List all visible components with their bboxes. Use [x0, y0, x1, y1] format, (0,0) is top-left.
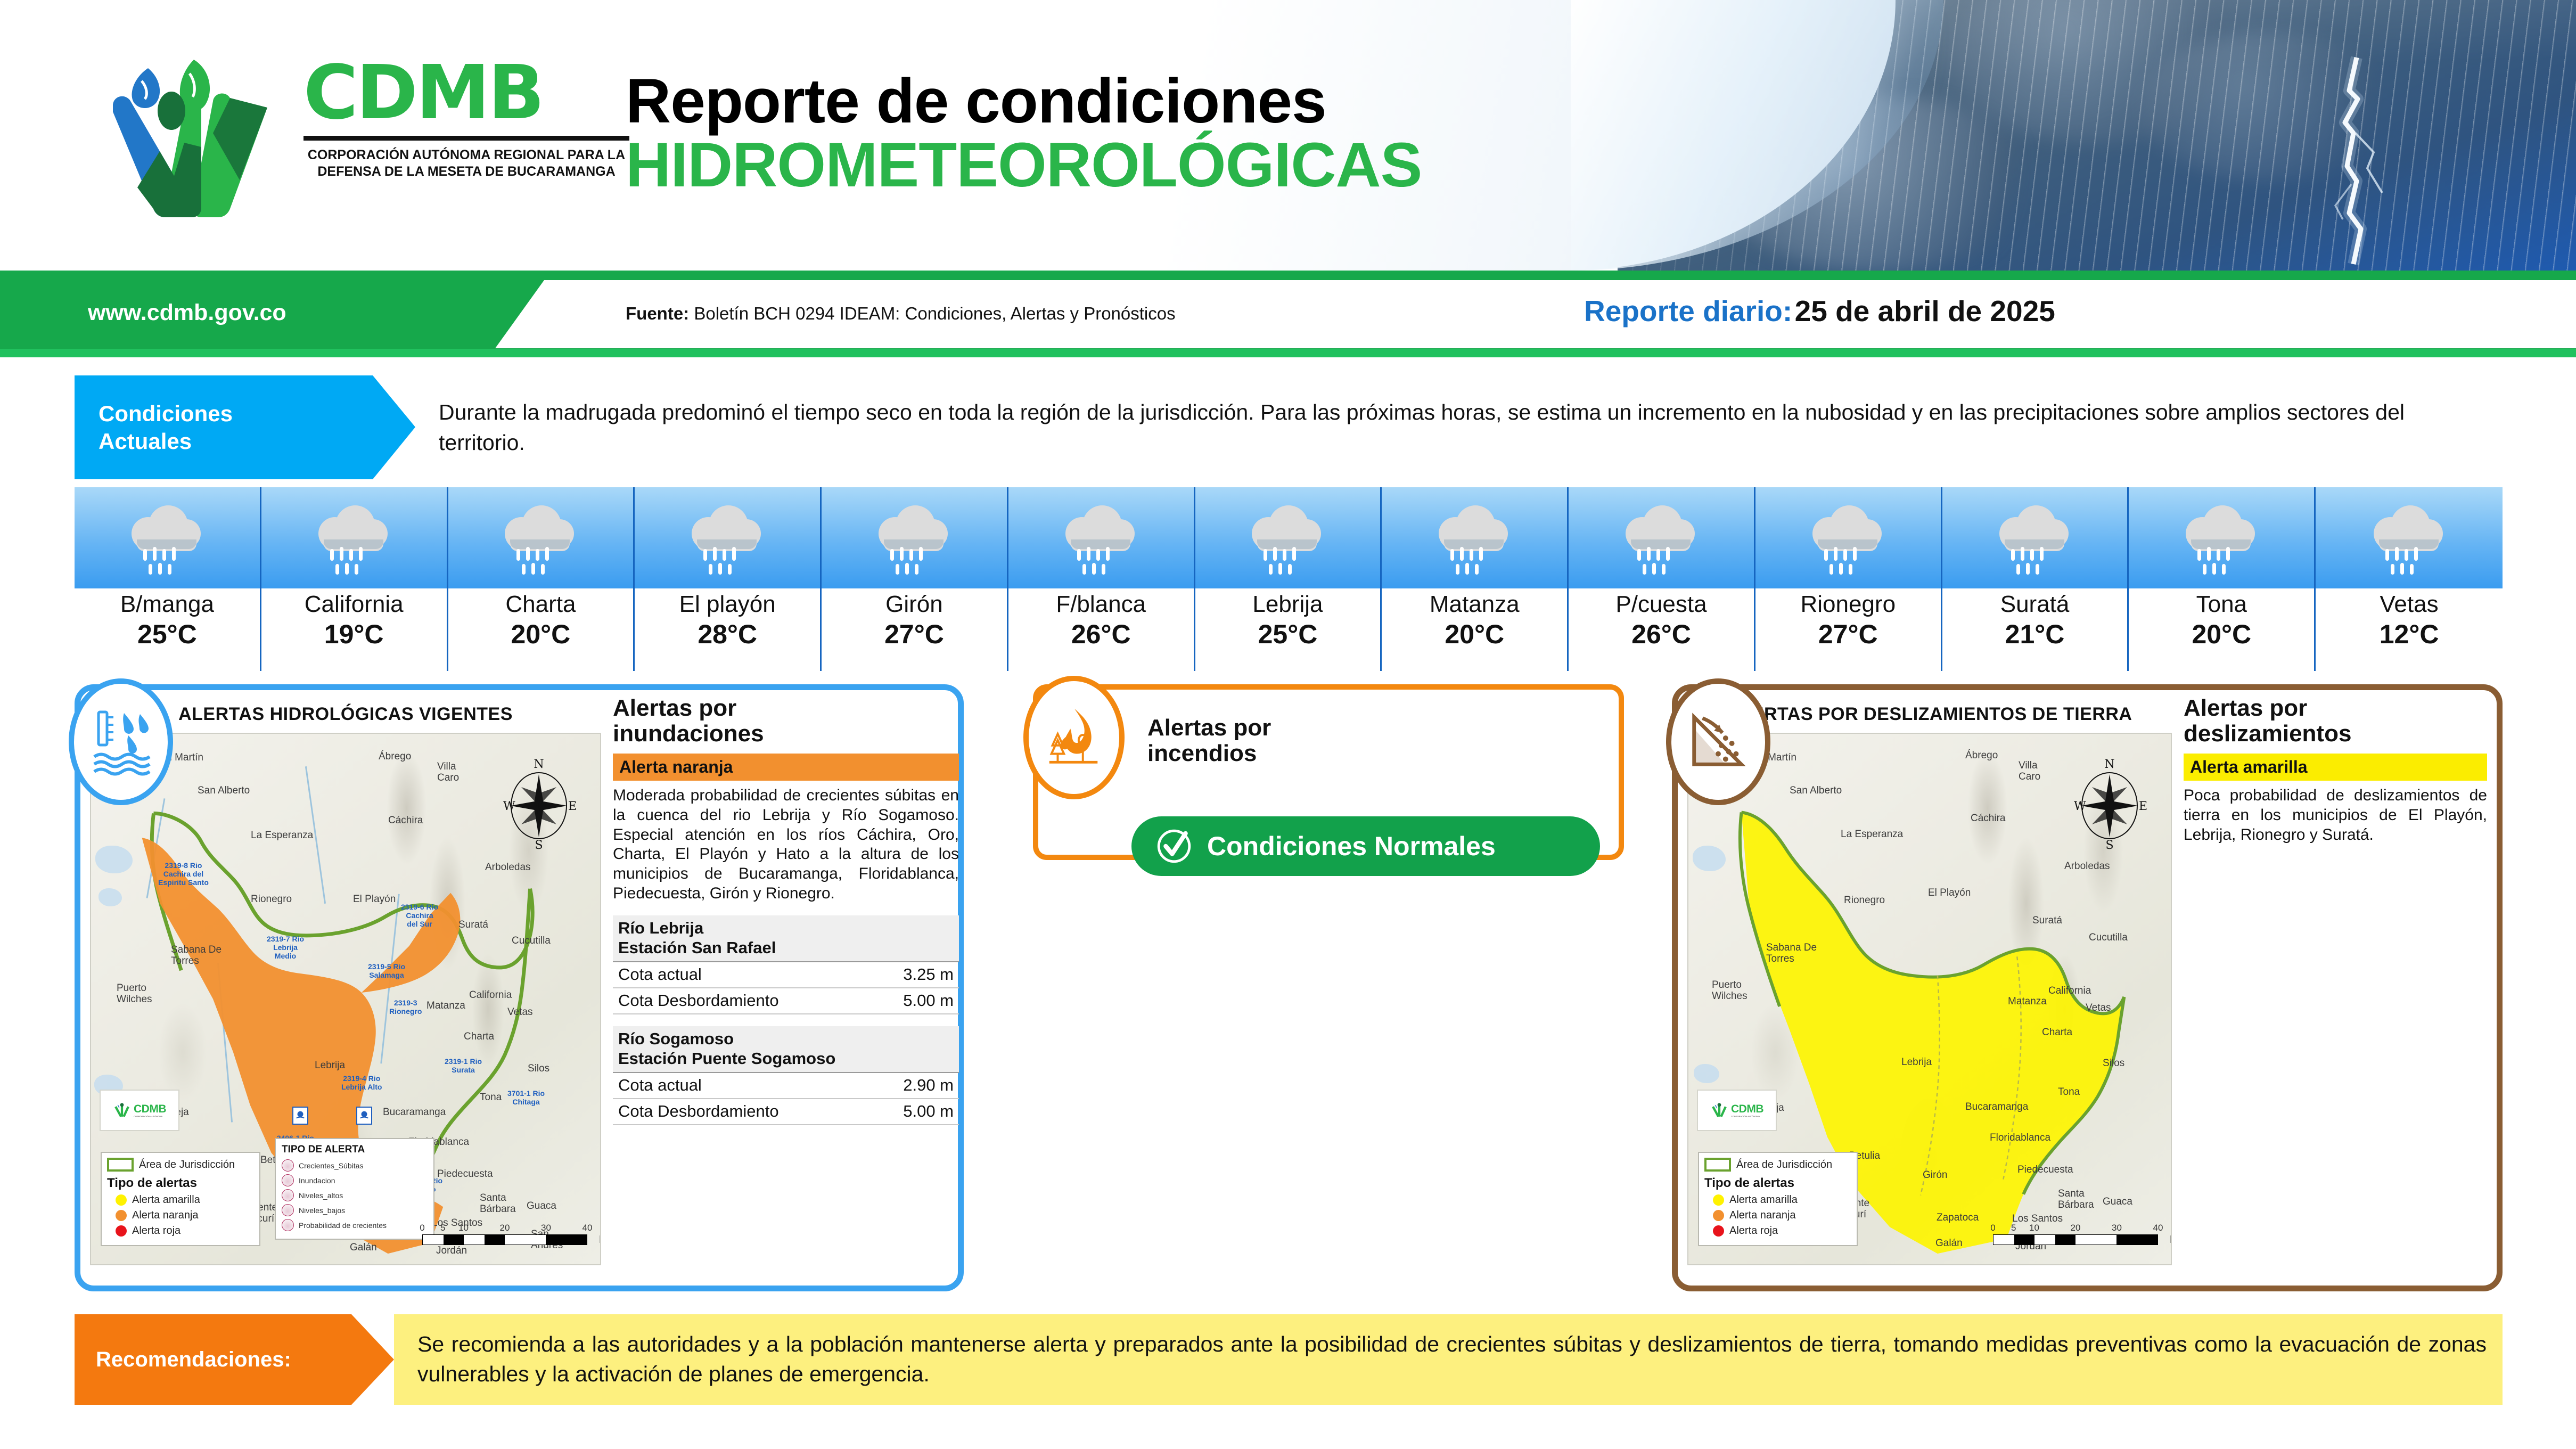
map-city-label: Rionegro — [251, 894, 292, 905]
green-underline — [0, 349, 2576, 357]
landslide-map-legend: Área de Jurisdicción Tipo de alertas Ale… — [1698, 1152, 1858, 1246]
map-city-label: Ábrego — [1965, 750, 1998, 762]
legend-label: Alerta amarilla — [132, 1194, 200, 1206]
map-city-label: Cáchira — [1971, 813, 2005, 824]
map-cdmb-logo: CDMB CORPORACIÓN AUTÓNOMA — [1697, 1090, 1777, 1131]
map-river-label: 2319-3Rionegro — [389, 999, 422, 1016]
map-city-label: Zapatoca — [1937, 1212, 1979, 1224]
map-city-label: Charta — [2042, 1027, 2072, 1038]
report-date-label: Reporte diario: — [1584, 294, 1792, 328]
legend-types-title: Tipo de alertas — [1704, 1176, 1851, 1191]
weather-icon-area — [2129, 487, 2316, 588]
river-row-value: 5.00 m — [903, 991, 954, 1010]
map-city-label: Arboledas — [485, 862, 531, 873]
map-city-label: SantaBárbara — [480, 1193, 516, 1215]
weather-icon-area — [1942, 487, 2129, 588]
rain-cloud-icon — [501, 498, 580, 578]
logo-divider — [303, 136, 629, 141]
map-city-label: Tona — [2058, 1086, 2080, 1098]
map-city-label: Piedecuesta — [437, 1168, 493, 1180]
temperature-cell: Suratá21°C — [1942, 487, 2129, 671]
rain-cloud-icon — [1061, 498, 1141, 578]
river-row-label: Cota actual — [618, 965, 702, 984]
temperature-label-area: F/blanca26°C — [1008, 588, 1195, 671]
website-url[interactable]: www.cdmb.gov.co — [88, 300, 286, 326]
alert-type-label: Inundacion — [299, 1176, 335, 1185]
temperature-label-area: Lebrija25°C — [1195, 588, 1382, 671]
scale-tick: 20 — [2071, 1223, 2081, 1233]
temperature-cell: Vetas12°C — [2316, 487, 2503, 671]
city-name: Suratá — [2000, 591, 2070, 618]
flood-alert-level-badge: Alerta naranja — [613, 754, 959, 781]
flood-alert-type-legend: TIPO DE ALERTA Crecientes_Súbitas Inunda… — [275, 1138, 434, 1240]
cdmb-acronym: CDMB — [303, 56, 639, 130]
temperature-cell: Tona20°C — [2129, 487, 2316, 671]
flood-alerts-panel[interactable]: ALERTAS HIDROLÓGICAS VIGENTES — [75, 684, 964, 1291]
map-city-label: Girón — [1923, 1169, 1947, 1181]
compass-rose-icon: N S W E — [499, 755, 579, 851]
map-city-label: Lebrija — [1901, 1057, 1932, 1068]
source-text: Boletín BCH 0294 IDEAM: Condiciones, Ale… — [689, 304, 1175, 323]
rain-cloud-icon — [127, 498, 207, 578]
map-city-label: La Esperanza — [1841, 829, 1903, 840]
city-temperature: 26°C — [1631, 618, 1691, 650]
flood-alert-heading: Alertas por inundaciones — [613, 695, 959, 747]
map-city-label: Arboledas — [2064, 861, 2110, 872]
cdmb-subtitle-line1: CORPORACIÓN AUTÓNOMA REGIONAL PARA LA — [303, 147, 629, 163]
landslide-icon — [1666, 678, 1770, 805]
svg-text:S: S — [535, 839, 543, 851]
city-name: Rionegro — [1800, 591, 1896, 618]
map-city-label: Vetas — [2086, 1002, 2111, 1014]
landslide-heading-line2: deslizamientos — [2184, 721, 2351, 747]
temperature-cell: El playón28°C — [635, 487, 822, 671]
station-marker — [292, 1107, 308, 1125]
landslide-alert-level-badge: Alerta amarilla — [2184, 754, 2487, 781]
landslide-map-scalebar: 0 5 10 20 30 40 Km — [1993, 1223, 2158, 1245]
alert-type-item: Niveles_altos — [282, 1189, 428, 1201]
temperature-label-area: Suratá21°C — [1942, 588, 2129, 671]
temperature-cell: F/blanca26°C — [1008, 487, 1195, 671]
map-river-label: 2319-1 RioSurata — [445, 1058, 482, 1075]
map-city-label: Cáchira — [388, 815, 423, 826]
weather-icon-area — [1569, 487, 1755, 588]
city-name: Charta — [505, 591, 576, 618]
river-station-block: Río Sogamoso Estación Puente Sogamoso Co… — [613, 1026, 959, 1125]
recommendations-section: Recomendaciones: Se recomienda a las aut… — [75, 1314, 2503, 1405]
city-temperature: 21°C — [2005, 618, 2065, 650]
legend-swatch-orange — [1713, 1210, 1724, 1221]
map-logo-sub: CORPORACIÓN AUTÓNOMA — [134, 1116, 166, 1118]
map-city-label: El Playón — [353, 894, 396, 905]
temperature-label-area: El playón28°C — [635, 588, 822, 671]
weather-icon-area — [2316, 487, 2503, 588]
map-city-label: California — [2048, 985, 2091, 997]
jurisdiction-swatch — [1704, 1158, 1731, 1172]
river-data-row: Cota Desbordamiento 5.00 m — [613, 988, 959, 1014]
forest-fire-icon — [1023, 676, 1125, 799]
legend-jurisdiction-label: Área de Jurisdicción — [139, 1159, 235, 1171]
temperature-cell: Rionegro27°C — [1755, 487, 1942, 671]
landslide-alert-heading: Alertas por deslizamientos — [2184, 695, 2487, 747]
legend-jurisdiction-label: Área de Jurisdicción — [1736, 1159, 1832, 1171]
map-city-label: Matanza — [426, 1000, 465, 1012]
temperature-cell: P/cuesta26°C — [1569, 487, 1755, 671]
city-name: F/blanca — [1056, 591, 1146, 618]
map-city-label: El Playón — [1928, 887, 1971, 899]
rain-cloud-icon — [874, 498, 954, 578]
svg-text:N: N — [2104, 758, 2114, 771]
scale-tick: 20 — [500, 1223, 510, 1233]
page-title: Reporte de condiciones HIDROMETEOROLÓGIC… — [626, 69, 1422, 198]
map-city-label: Matanza — [2008, 996, 2047, 1008]
flood-map-legend: Área de Jurisdicción Tipo de alertas Ale… — [101, 1152, 260, 1246]
map-city-label: Vetas — [507, 1006, 533, 1018]
temperature-cell: Matanza20°C — [1382, 487, 1569, 671]
rain-cloud-icon — [687, 498, 767, 578]
legend-swatch-yellow — [116, 1194, 127, 1206]
legend-jurisdiction-row: Área de Jurisdicción — [1704, 1158, 1851, 1172]
cdmb-logo[interactable]: CDMB CORPORACIÓN AUTÓNOMA REGIONAL PARA … — [80, 43, 644, 240]
water-level-gauge-icon — [69, 678, 173, 805]
rain-cloud-icon — [1808, 498, 1888, 578]
map-river-label: 3701-1 RioChitaga — [507, 1090, 545, 1107]
city-temperature: 25°C — [137, 618, 197, 650]
temperature-label-area: Vetas12°C — [2316, 588, 2503, 671]
landslide-map-canvas: San Martín San Alberto Ábrego VillaCaro … — [1687, 733, 2172, 1265]
city-temperature: 19°C — [324, 618, 384, 650]
legend-item: Alerta roja — [1713, 1225, 1851, 1237]
river-row-value: 2.90 m — [903, 1076, 954, 1095]
city-name: Girón — [885, 591, 943, 618]
map-city-label: Galán — [1935, 1238, 1963, 1249]
alert-type-item: Niveles_bajos — [282, 1204, 428, 1216]
city-name: Tona — [2196, 591, 2247, 618]
inundacion-icon — [282, 1174, 294, 1186]
map-city-label: PuertoWilches — [117, 983, 152, 1005]
map-city-label: VillaCaro — [437, 762, 459, 784]
temperature-label-area: P/cuesta26°C — [1569, 588, 1755, 671]
city-name: California — [305, 591, 404, 618]
temperature-cell: B/manga25°C — [75, 487, 261, 671]
map-river-label: 2319-8 RioCachira delEspiritu Santo — [158, 862, 209, 887]
weather-icon-area — [635, 487, 822, 588]
rain-cloud-icon — [1621, 498, 1701, 578]
landslide-alert-text-column: Alertas por deslizamientos Alerta amaril… — [2184, 695, 2487, 845]
map-city-label: Silos — [2103, 1058, 2124, 1069]
scale-tick: 0 — [420, 1223, 424, 1233]
map-city-label: Suratá — [458, 919, 488, 931]
title-line-1: Reporte de condiciones — [626, 69, 1422, 133]
flood-alert-text-column: Alertas por inundaciones Alerta naranja … — [613, 695, 959, 1125]
weather-icon-area — [261, 487, 448, 588]
current-conditions-text: Durante la madrugada predominó el tiempo… — [415, 375, 2503, 479]
rain-cloud-icon — [1248, 498, 1327, 578]
map-city-label: San Alberto — [198, 785, 250, 797]
river-row-label: Cota Desbordamiento — [618, 991, 779, 1010]
rain-cloud-icon — [2181, 498, 2261, 578]
svg-text:E: E — [568, 800, 577, 813]
weather-icon-area — [822, 487, 1008, 588]
map-city-label: Tona — [480, 1092, 502, 1103]
scale-tick: 10 — [458, 1223, 469, 1233]
city-name: Lebrija — [1252, 591, 1323, 618]
flood-map[interactable]: ALERTAS HIDROLÓGICAS VIGENTES — [90, 700, 601, 1265]
scale-tick: 5 — [2011, 1223, 2016, 1233]
landslide-heading-line1: Alertas por — [2184, 695, 2307, 721]
legend-item: Alerta amarilla — [116, 1194, 254, 1206]
report-date-block: Reporte diario: 25 de abril de 2025 — [1584, 294, 2055, 328]
svg-text:E: E — [2139, 800, 2147, 813]
map-city-label: Suratá — [2032, 915, 2062, 927]
recommendations-text: Se recomienda a las autoridades y a la p… — [394, 1314, 2503, 1405]
weather-icon-area — [1382, 487, 1569, 588]
river-data-row: Cota actual 2.90 m — [613, 1073, 959, 1099]
river-row-label: Cota actual — [618, 1076, 702, 1095]
cdmb-figures-icon — [80, 48, 303, 234]
alert-type-label: Niveles_bajos — [299, 1206, 345, 1215]
temperature-cell: Lebrija25°C — [1195, 487, 1382, 671]
map-city-label: Guaca — [527, 1200, 556, 1212]
map-city-label: Cucutilla — [2089, 932, 2128, 944]
alert-type-item: Inundacion — [282, 1174, 428, 1186]
map-city-label: PuertoWilches — [1712, 980, 1748, 1002]
recommendations-tag: Recomendaciones: — [75, 1314, 394, 1405]
svg-text:N: N — [534, 758, 544, 771]
river-data-row: Cota Desbordamiento 5.00 m — [613, 1099, 959, 1125]
city-name: P/cuesta — [1615, 591, 1707, 618]
recommendations-tag-label: Recomendaciones: — [96, 1348, 291, 1372]
temperature-label-area: B/manga25°C — [75, 588, 261, 671]
city-temperature: 20°C — [511, 618, 571, 650]
fire-alerts-panel[interactable]: Alertas por incendios Condiciones Normal… — [1033, 684, 1624, 860]
city-name: Matanza — [1430, 591, 1520, 618]
source-label: Fuente: — [626, 304, 689, 323]
map-city-label: Sabana DeTorres — [171, 945, 221, 967]
rain-cloud-icon — [1995, 498, 2075, 578]
svg-text:W: W — [2074, 800, 2086, 813]
map-city-label: Jordán — [436, 1245, 467, 1257]
legend-swatch-red — [116, 1225, 127, 1237]
flood-heading-line1: Alertas por — [613, 695, 736, 721]
temperature-cell: Charta20°C — [448, 487, 635, 671]
alert-type-label: Niveles_altos — [299, 1191, 343, 1200]
flood-heading-line2: inundaciones — [613, 721, 764, 747]
fire-heading-line1: Alertas por — [1147, 715, 1271, 741]
map-city-label: Guaca — [2103, 1196, 2132, 1208]
jurisdiction-swatch — [107, 1158, 134, 1172]
rain-cloud-icon — [2369, 498, 2449, 578]
city-temperature: 27°C — [884, 618, 944, 650]
map-city-label: VillaCaro — [2019, 760, 2040, 783]
current-conditions-tag: Condiciones Actuales — [75, 375, 415, 479]
landslide-map[interactable]: ALERTAS POR DESLIZAMIENTOS DE TIERRA San… — [1687, 700, 2172, 1248]
scalebar-unit: Km — [599, 1234, 601, 1246]
alert-type-item: Probabilidad de crecientes — [282, 1219, 428, 1231]
map-city-label: Bucaramanga — [383, 1107, 446, 1118]
map-river-label: 2319-4 RioLebrija Alto — [341, 1075, 382, 1092]
river-row-label: Cota Desbordamiento — [618, 1102, 779, 1121]
alert-type-legend-title: TIPO DE ALERTA — [282, 1144, 428, 1156]
map-city-label: California — [469, 989, 512, 1001]
report-date-value: 25 de abril de 2025 — [1795, 294, 2055, 328]
map-city-label: Silos — [528, 1063, 549, 1075]
svg-text:S: S — [2105, 839, 2113, 851]
city-name: Vetas — [2380, 591, 2439, 618]
current-conditions-tag-line1: Condiciones — [99, 400, 415, 427]
map-river-label: 2319-6 RioCachiradel Sur — [401, 903, 438, 929]
map-city-label: Floridablanca — [1990, 1132, 2050, 1144]
rain-cloud-icon — [1434, 498, 1514, 578]
scale-tick: 0 — [1990, 1223, 1995, 1233]
weather-icon-area — [1195, 487, 1382, 588]
city-name: B/manga — [120, 591, 214, 618]
weather-icon-area — [1008, 487, 1195, 588]
map-city-label: San Alberto — [1790, 785, 1842, 797]
map-river-label: 2319-5 RioSalamaga — [368, 963, 405, 980]
map-river-label: 2319-7 RioLebrijaMedio — [267, 935, 304, 961]
station-name: Estación Puente Sogamoso — [618, 1049, 835, 1068]
scalebar-bar — [422, 1234, 587, 1245]
scale-tick: 40 — [2153, 1223, 2163, 1233]
map-cdmb-logo: CDMB CORPORACIÓN AUTÓNOMA — [100, 1090, 179, 1131]
temperature-label-area: Charta20°C — [448, 588, 635, 671]
temperature-label-area: Matanza20°C — [1382, 588, 1569, 671]
niveles-bajos-icon — [282, 1204, 294, 1216]
river-row-value: 5.00 m — [903, 1102, 954, 1121]
legend-item: Alerta naranja — [1713, 1209, 1851, 1222]
weather-icon-area — [75, 487, 261, 588]
map-logo-text: CDMB — [1731, 1103, 1763, 1116]
city-temperature: 20°C — [1445, 618, 1504, 650]
flood-map-canvas: San Martín San Alberto Ábrego VillaCaro … — [90, 733, 601, 1265]
legend-swatch-red — [1713, 1225, 1724, 1237]
temperature-cell: Girón27°C — [822, 487, 1008, 671]
cdmb-subtitle-line2: DEFENSA DE LA MESETA DE BUCARAMANGA — [303, 163, 629, 180]
legend-label: Alerta naranja — [132, 1209, 199, 1222]
scale-tick: 10 — [2029, 1223, 2039, 1233]
map-city-label: Rionegro — [1844, 895, 1885, 906]
legend-item: Alerta roja — [116, 1225, 254, 1237]
city-temperature: 27°C — [1818, 618, 1878, 650]
map-city-label: Cucutilla — [512, 935, 551, 947]
temperature-label-area: Tona20°C — [2129, 588, 2316, 671]
weather-icon-area — [448, 487, 635, 588]
legend-label: Alerta naranja — [1729, 1209, 1796, 1222]
station-marker — [356, 1107, 372, 1125]
landslide-alert-body: Poca probabilidad de deslizamientos de t… — [2184, 786, 2487, 845]
info-bar: www.cdmb.gov.co Fuente: Boletín BCH 0294… — [0, 271, 2576, 356]
map-city-label: La Esperanza — [251, 830, 313, 841]
river-name: Río Sogamoso — [618, 1029, 734, 1048]
landslide-alerts-panel[interactable]: ALERTAS POR DESLIZAMIENTOS DE TIERRA San… — [1672, 684, 2503, 1291]
city-temperature: 20°C — [2192, 618, 2251, 650]
current-conditions-tag-line2: Actuales — [99, 428, 415, 455]
flood-map-scalebar: 0 5 10 20 30 40 Km — [422, 1223, 587, 1245]
alert-type-label: Probabilidad de crecientes — [299, 1221, 387, 1230]
flood-alert-body: Moderada probabilidad de crecientes súbi… — [613, 786, 959, 904]
legend-item: Alerta amarilla — [1713, 1194, 1851, 1206]
legend-jurisdiction-row: Área de Jurisdicción — [107, 1158, 254, 1172]
river-row-value: 3.25 m — [903, 965, 954, 984]
fire-heading-line2: incendios — [1147, 740, 1257, 766]
svg-text:W: W — [503, 800, 515, 813]
fire-alert-heading: Alertas por incendios — [1147, 715, 1271, 767]
city-temperature: 12°C — [2380, 618, 2439, 650]
temperature-label-area: Girón27°C — [822, 588, 1008, 671]
scalebar-ticks: 0 5 10 20 30 40 — [422, 1223, 587, 1234]
alert-type-item: Crecientes_Súbitas — [282, 1159, 428, 1172]
title-line-2: HIDROMETEOROLÓGICAS — [626, 133, 1422, 197]
scale-tick: 30 — [2112, 1223, 2122, 1233]
current-conditions-section: Condiciones Actuales Durante la madrugad… — [75, 375, 2503, 479]
river-station-header: Río Sogamoso Estación Puente Sogamoso — [613, 1026, 959, 1073]
source-note: Fuente: Boletín BCH 0294 IDEAM: Condicio… — [626, 304, 1176, 324]
lightning-icon — [2294, 53, 2416, 266]
alert-panels-row: ALERTAS HIDROLÓGICAS VIGENTES — [75, 684, 2503, 1302]
weather-icon-area — [1755, 487, 1942, 588]
page-header: CDMB CORPORACIÓN AUTÓNOMA REGIONAL PARA … — [0, 0, 2576, 271]
legend-swatch-orange — [116, 1210, 127, 1221]
city-name: El playón — [679, 591, 776, 618]
scale-tick: 30 — [541, 1223, 551, 1233]
map-city-label: Bucaramanga — [1965, 1101, 2028, 1113]
river-station-header: Río Lebrija Estación San Rafael — [613, 915, 959, 962]
legend-label: Alerta roja — [132, 1225, 181, 1237]
alert-type-label: Crecientes_Súbitas — [299, 1161, 363, 1170]
crecientes-subitas-icon — [282, 1159, 294, 1172]
map-city-label: Piedecuesta — [2017, 1164, 2073, 1176]
temperature-strip: B/manga25°CCalifornia19°CCharta20°CEl pl… — [75, 487, 2503, 671]
rain-cloud-icon — [314, 498, 394, 578]
fire-status-badge[interactable]: Condiciones Normales — [1131, 816, 1600, 876]
map-logo-sub: CORPORACIÓN AUTÓNOMA — [1731, 1116, 1763, 1118]
station-name: Estación San Rafael — [618, 938, 776, 957]
niveles-altos-icon — [282, 1189, 294, 1201]
legend-label: Alerta roja — [1729, 1225, 1778, 1237]
river-data-row: Cota actual 3.25 m — [613, 962, 959, 988]
scalebar-bar — [1993, 1234, 2158, 1245]
cdmb-logo-text: CDMB CORPORACIÓN AUTÓNOMA REGIONAL PARA … — [303, 56, 639, 179]
probabilidad-crecientes-icon — [282, 1219, 294, 1231]
scale-tick: 5 — [440, 1223, 445, 1233]
river-name: Río Lebrija — [618, 919, 703, 937]
map-city-label: Galán — [350, 1242, 377, 1254]
temperature-cell: California19°C — [261, 487, 448, 671]
map-city-label: Lebrija — [315, 1060, 345, 1071]
temperature-label-area: California19°C — [261, 588, 448, 671]
fire-status-text: Condiciones Normales — [1207, 831, 1496, 862]
map-city-label: Charta — [464, 1031, 494, 1043]
check-circle-icon — [1155, 827, 1193, 865]
city-temperature: 26°C — [1071, 618, 1131, 650]
scalebar-ticks: 0 5 10 20 30 40 — [1993, 1223, 2158, 1234]
map-city-label: Ábrego — [379, 751, 411, 763]
legend-label: Alerta amarilla — [1729, 1194, 1798, 1206]
scale-tick: 40 — [583, 1223, 593, 1233]
river-station-block: Río Lebrija Estación San Rafael Cota act… — [613, 915, 959, 1014]
legend-swatch-yellow — [1713, 1194, 1724, 1206]
map-logo-text: CDMB — [134, 1103, 166, 1116]
map-city-label: Sabana DeTorres — [1766, 943, 1817, 965]
city-temperature: 28°C — [698, 618, 757, 650]
legend-item: Alerta naranja — [116, 1209, 254, 1222]
scalebar-unit: Km — [2170, 1234, 2172, 1246]
compass-rose-icon: N S W E — [2070, 755, 2150, 851]
map-city-label: SantaBárbara — [2058, 1189, 2094, 1211]
legend-types-title: Tipo de alertas — [107, 1176, 254, 1191]
city-temperature: 25°C — [1258, 618, 1318, 650]
